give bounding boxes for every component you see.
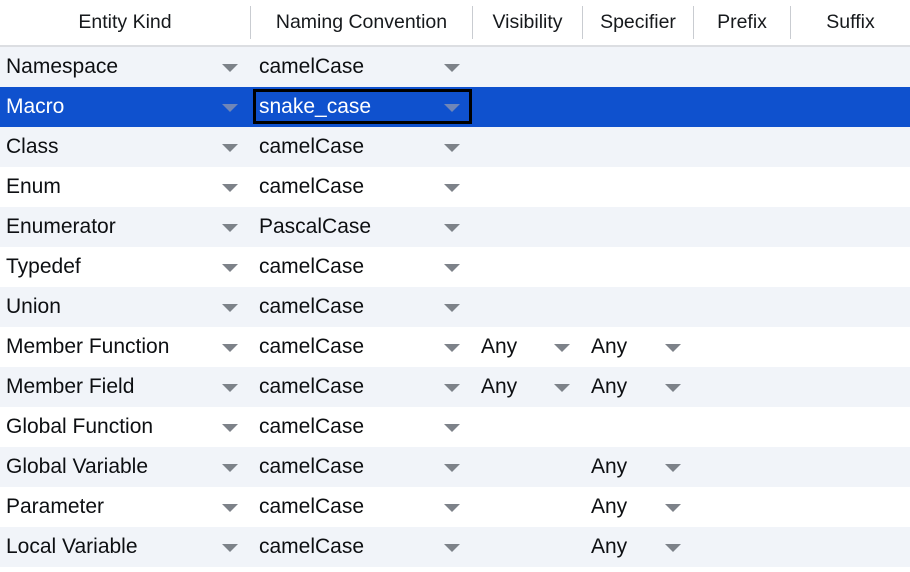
chevron-down-icon[interactable] xyxy=(665,384,681,392)
cell-suffix[interactable] xyxy=(791,367,910,407)
cell-visibility[interactable]: Any xyxy=(473,367,582,407)
cell-naming-convention[interactable]: camelCase xyxy=(251,47,472,87)
cell-value: Any xyxy=(591,527,627,567)
column-divider[interactable] xyxy=(790,6,791,39)
cell-value: Global Function xyxy=(6,407,153,447)
cell-value: Member Field xyxy=(6,367,134,407)
cell-value: camelCase xyxy=(259,327,364,367)
chevron-down-icon[interactable] xyxy=(222,264,238,272)
chevron-down-icon[interactable] xyxy=(444,544,460,552)
table-row[interactable]: Member FieldcamelCaseAnyAny xyxy=(0,367,910,407)
cell-value: snake_case xyxy=(259,87,371,127)
chevron-down-icon[interactable] xyxy=(222,384,238,392)
cell-value: camelCase xyxy=(259,407,364,447)
chevron-down-icon[interactable] xyxy=(665,344,681,352)
cell-visibility[interactable] xyxy=(473,207,582,247)
cell-value: Typedef xyxy=(6,247,81,287)
cell-value: Union xyxy=(6,287,61,327)
chevron-down-icon[interactable] xyxy=(222,64,238,72)
cell-visibility[interactable] xyxy=(473,447,582,487)
cell-specifier[interactable] xyxy=(583,47,693,87)
cell-entity-kind[interactable]: Global Function xyxy=(0,407,250,447)
cell-suffix[interactable] xyxy=(791,407,910,447)
chevron-down-icon[interactable] xyxy=(222,424,238,432)
cell-naming-convention[interactable]: PascalCase xyxy=(251,207,472,247)
chevron-down-icon[interactable] xyxy=(444,384,460,392)
column-divider[interactable] xyxy=(582,6,583,39)
cell-entity-kind[interactable]: Local Variable xyxy=(0,527,250,567)
table-header-row: Entity KindNaming ConventionVisibilitySp… xyxy=(0,0,910,47)
cell-value: camelCase xyxy=(259,167,364,207)
cell-suffix[interactable] xyxy=(791,47,910,87)
cell-prefix[interactable] xyxy=(694,127,790,167)
cell-visibility[interactable] xyxy=(473,527,582,567)
chevron-down-icon[interactable] xyxy=(444,264,460,272)
chevron-down-icon[interactable] xyxy=(222,144,238,152)
cell-naming-convention[interactable]: camelCase xyxy=(251,407,472,447)
table-row[interactable]: TypedefcamelCase xyxy=(0,247,910,287)
chevron-down-icon[interactable] xyxy=(222,504,238,512)
cell-naming-convention[interactable]: camelCase xyxy=(251,487,472,527)
cell-specifier[interactable]: Any xyxy=(583,527,693,567)
table-row[interactable]: Member FunctioncamelCaseAnyAny xyxy=(0,327,910,367)
cell-value: camelCase xyxy=(259,247,364,287)
cell-naming-convention[interactable]: camelCase xyxy=(251,127,472,167)
cell-prefix[interactable] xyxy=(694,207,790,247)
cell-value: Global Variable xyxy=(6,447,148,487)
cell-naming-convention[interactable]: camelCase xyxy=(251,367,472,407)
cell-naming-convention[interactable]: camelCase xyxy=(251,287,472,327)
cell-specifier[interactable] xyxy=(583,407,693,447)
table-row[interactable]: EnumeratorPascalCase xyxy=(0,207,910,247)
chevron-down-icon[interactable] xyxy=(222,344,238,352)
cell-value: Any xyxy=(481,367,517,407)
cell-visibility[interactable] xyxy=(473,87,582,127)
cell-naming-convention[interactable]: camelCase xyxy=(251,447,472,487)
table-row[interactable]: Global VariablecamelCaseAny xyxy=(0,447,910,487)
table-row[interactable]: ParametercamelCaseAny xyxy=(0,487,910,527)
cell-value: camelCase xyxy=(259,447,364,487)
table-row[interactable]: EnumcamelCase xyxy=(0,167,910,207)
cell-specifier[interactable] xyxy=(583,207,693,247)
cell-prefix[interactable] xyxy=(694,327,790,367)
cell-value: camelCase xyxy=(259,127,364,167)
cell-visibility[interactable] xyxy=(473,127,582,167)
chevron-down-icon[interactable] xyxy=(222,544,238,552)
column-header-visibility[interactable]: Visibility xyxy=(473,0,582,45)
cell-suffix[interactable] xyxy=(791,167,910,207)
chevron-down-icon[interactable] xyxy=(222,104,238,112)
column-divider[interactable] xyxy=(472,6,473,39)
cell-visibility[interactable] xyxy=(473,167,582,207)
cell-entity-kind[interactable]: Typedef xyxy=(0,247,250,287)
cell-value: Any xyxy=(591,327,627,367)
cell-value: Any xyxy=(591,447,627,487)
cell-prefix[interactable] xyxy=(694,167,790,207)
cell-value: camelCase xyxy=(259,487,364,527)
cell-suffix[interactable] xyxy=(791,87,910,127)
chevron-down-icon[interactable] xyxy=(444,64,460,72)
cell-value: Enumerator xyxy=(6,207,116,247)
cell-prefix[interactable] xyxy=(694,407,790,447)
cell-suffix[interactable] xyxy=(791,127,910,167)
cell-entity-kind[interactable]: Class xyxy=(0,127,250,167)
cell-specifier[interactable]: Any xyxy=(583,447,693,487)
cell-value: camelCase xyxy=(259,287,364,327)
cell-entity-kind[interactable]: Global Variable xyxy=(0,447,250,487)
table-body: NamespacecamelCaseMacrosnake_caseClassca… xyxy=(0,47,910,572)
cell-entity-kind[interactable]: Enum xyxy=(0,167,250,207)
column-header-naming-convention[interactable]: Naming Convention xyxy=(251,0,472,45)
table-row[interactable]: Local VariablecamelCaseAny xyxy=(0,527,910,567)
cell-value: Macro xyxy=(6,87,64,127)
chevron-down-icon[interactable] xyxy=(554,344,570,352)
cell-naming-convention[interactable]: camelCase xyxy=(251,247,472,287)
cell-specifier[interactable] xyxy=(583,167,693,207)
chevron-down-icon[interactable] xyxy=(554,384,570,392)
column-header-prefix[interactable]: Prefix xyxy=(694,0,790,45)
cell-prefix[interactable] xyxy=(694,287,790,327)
column-divider[interactable] xyxy=(250,6,251,39)
naming-convention-table: Entity KindNaming ConventionVisibilitySp… xyxy=(0,0,910,572)
cell-visibility[interactable] xyxy=(473,487,582,527)
chevron-down-icon[interactable] xyxy=(222,184,238,192)
cell-visibility[interactable] xyxy=(473,287,582,327)
cell-specifier[interactable]: Any xyxy=(583,367,693,407)
cell-value: camelCase xyxy=(259,527,364,567)
column-header-specifier[interactable]: Specifier xyxy=(583,0,693,45)
table-row[interactable]: NamespacecamelCase xyxy=(0,47,910,87)
column-header-entity-kind[interactable]: Entity Kind xyxy=(0,0,250,45)
chevron-down-icon[interactable] xyxy=(665,464,681,472)
cell-specifier[interactable] xyxy=(583,287,693,327)
cell-specifier[interactable] xyxy=(583,87,693,127)
chevron-down-icon[interactable] xyxy=(222,464,238,472)
cell-entity-kind[interactable]: Parameter xyxy=(0,487,250,527)
column-divider[interactable] xyxy=(693,6,694,39)
chevron-down-icon[interactable] xyxy=(444,424,460,432)
chevron-down-icon[interactable] xyxy=(444,464,460,472)
cell-visibility[interactable]: Any xyxy=(473,327,582,367)
cell-entity-kind[interactable]: Member Field xyxy=(0,367,250,407)
chevron-down-icon[interactable] xyxy=(665,504,681,512)
cell-suffix[interactable] xyxy=(791,207,910,247)
cell-suffix[interactable] xyxy=(791,447,910,487)
cell-value: Any xyxy=(591,367,627,407)
cell-value: Local Variable xyxy=(6,527,138,567)
cell-specifier[interactable]: Any xyxy=(583,487,693,527)
chevron-down-icon[interactable] xyxy=(444,344,460,352)
cell-value: Member Function xyxy=(6,327,169,367)
cell-value: Enum xyxy=(6,167,61,207)
cell-prefix[interactable] xyxy=(694,487,790,527)
chevron-down-icon[interactable] xyxy=(222,304,238,312)
cell-entity-kind[interactable]: Member Function xyxy=(0,327,250,367)
cell-suffix[interactable] xyxy=(791,287,910,327)
cell-specifier[interactable]: Any xyxy=(583,327,693,367)
cell-value: Parameter xyxy=(6,487,104,527)
chevron-down-icon[interactable] xyxy=(222,224,238,232)
cell-prefix[interactable] xyxy=(694,527,790,567)
table-row[interactable]: ClasscamelCase xyxy=(0,127,910,167)
cell-prefix[interactable] xyxy=(694,367,790,407)
table-row[interactable]: Macrosnake_case xyxy=(0,87,910,127)
cell-prefix[interactable] xyxy=(694,47,790,87)
chevron-down-icon[interactable] xyxy=(444,184,460,192)
cell-value: PascalCase xyxy=(259,207,371,247)
chevron-down-icon[interactable] xyxy=(444,104,460,112)
cell-suffix[interactable] xyxy=(791,247,910,287)
cell-value: Any xyxy=(481,327,517,367)
table-row[interactable]: Global FunctioncamelCase xyxy=(0,407,910,447)
cell-entity-kind[interactable]: Union xyxy=(0,287,250,327)
table-row[interactable]: UnioncamelCase xyxy=(0,287,910,327)
cell-naming-convention[interactable]: camelCase xyxy=(251,167,472,207)
cell-value: Namespace xyxy=(6,47,118,87)
cell-entity-kind[interactable]: Macro xyxy=(0,87,250,127)
cell-entity-kind[interactable]: Enumerator xyxy=(0,207,250,247)
cell-value: camelCase xyxy=(259,47,364,87)
cell-value: Any xyxy=(591,487,627,527)
cell-visibility[interactable] xyxy=(473,407,582,447)
chevron-down-icon[interactable] xyxy=(444,224,460,232)
column-header-suffix[interactable]: Suffix xyxy=(791,0,910,45)
cell-suffix[interactable] xyxy=(791,327,910,367)
cell-visibility[interactable] xyxy=(473,247,582,287)
cell-entity-kind[interactable]: Namespace xyxy=(0,47,250,87)
cell-suffix[interactable] xyxy=(791,527,910,567)
cell-naming-convention[interactable]: snake_case xyxy=(251,87,472,127)
cell-prefix[interactable] xyxy=(694,87,790,127)
cell-visibility[interactable] xyxy=(473,47,582,87)
chevron-down-icon[interactable] xyxy=(444,144,460,152)
cell-specifier[interactable] xyxy=(583,127,693,167)
cell-naming-convention[interactable]: camelCase xyxy=(251,327,472,367)
cell-value: camelCase xyxy=(259,367,364,407)
cell-naming-convention[interactable]: camelCase xyxy=(251,527,472,567)
cell-prefix[interactable] xyxy=(694,447,790,487)
cell-value: Class xyxy=(6,127,59,167)
chevron-down-icon[interactable] xyxy=(444,504,460,512)
cell-prefix[interactable] xyxy=(694,247,790,287)
cell-suffix[interactable] xyxy=(791,487,910,527)
chevron-down-icon[interactable] xyxy=(444,304,460,312)
chevron-down-icon[interactable] xyxy=(665,544,681,552)
cell-specifier[interactable] xyxy=(583,247,693,287)
